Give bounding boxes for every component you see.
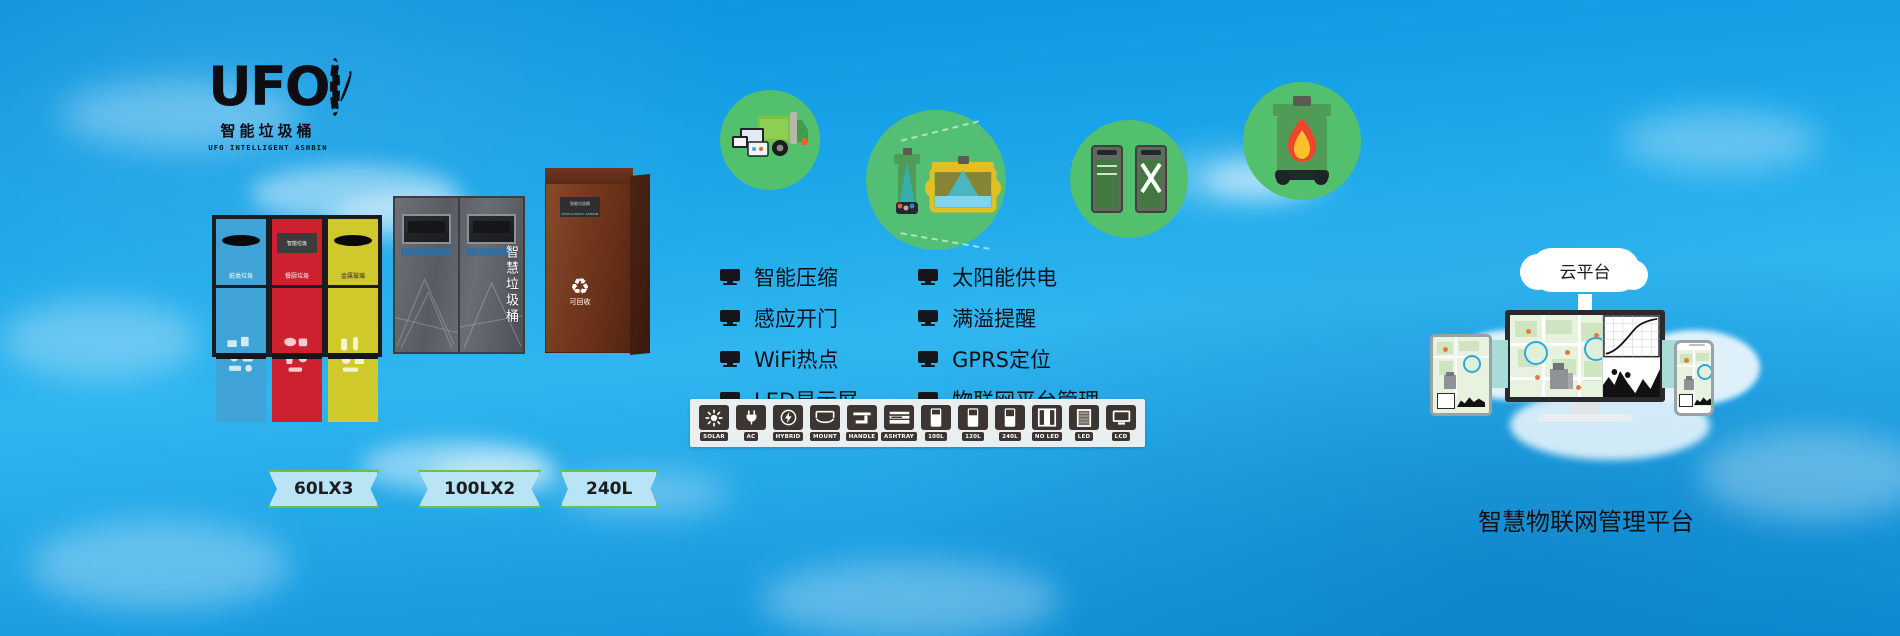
bin-120l-icon [958,405,988,430]
cloud-decoration [760,560,1060,636]
bin-compartment-left [395,198,458,352]
cloud-platform-label: 云平台 [1560,258,1611,283]
tablet-map-view [1433,337,1489,413]
device-tablet [1430,334,1492,416]
feature-label: 满溢提醒 [952,303,1036,333]
no-led-icon [1032,405,1062,430]
spec-label: AC [744,432,759,441]
feature-label: GPRS定位 [952,344,1051,374]
bin-panel-label: 金属玻璃 [328,271,378,280]
spec-label: SOLAR [700,432,728,441]
feature-circle-fire-alarm [1243,82,1361,200]
phone-speaker [1689,344,1705,346]
led-icon [1069,405,1099,430]
bin-panel-metal-glass: 金属玻璃 [324,215,382,357]
bin-panel-label: 纸类垃圾 [216,271,266,280]
bin-panel-recyclable: 纸类垃圾 [212,215,268,357]
cloud-decoration [0,300,200,380]
bin-lid [545,168,633,184]
wall-mount-icon [810,405,840,430]
feature-item: 感应开门 [720,303,858,333]
feature-column-left: 智能压缩 感应开门 WiFi热点 LED显示屏 [720,262,858,415]
feature-item: GPRS定位 [918,344,1099,374]
monitor-icon [918,351,938,367]
spec-ac[interactable]: AC [736,405,766,441]
feature-column-right: 太阳能供电 满溢提醒 GPRS定位 物联网平台管理 [918,262,1099,415]
monitor-icon [720,269,740,285]
monitor-icon [720,351,740,367]
bin-panel-kitchen-waste: 智能垃圾 餐厨垃圾 [268,215,324,357]
cloud-platform-badge: 云平台 [1530,248,1640,292]
recycle-icon: ♻ [562,277,598,297]
spec-ashtray[interactable]: ASHTRAY [884,405,914,441]
brand-logo: UFO 智能垃圾桶 UFO INTELLIGENT ASHBIN [208,56,328,152]
area-chart [1603,363,1660,399]
logo-english-name: UFO INTELLIGENT ASHBIN [207,144,329,152]
spec-lcd[interactable]: LCD [1106,405,1136,441]
bin-screen-title: 智能垃圾桶 [560,201,600,207]
spec-label: LCD [1112,432,1131,441]
device-monitor [1505,310,1665,402]
ashtray-icon [884,405,914,430]
spec-label: ASHTRAY [881,432,917,441]
logo-chinese-name: 智能垃圾桶 [208,120,328,141]
deposit-window-icon [402,214,451,244]
feature-item: WiFi热点 [720,344,858,374]
capacity-banner-60lx3: 60LX3 [268,470,379,508]
spec-label: LED [1075,432,1093,441]
product-bin-240l: 智能垃圾桶 INTELLIGENT ASHBIN ♻ 可回收 [545,168,633,353]
capacity-banner-100lx2: 100LX2 [418,470,541,508]
monitor-left-accent [1492,340,1508,388]
monitor-map-view [1510,315,1603,397]
spec-label: 100L [925,432,947,441]
plug-icon [736,405,766,430]
panel-pattern [395,260,458,352]
bin-100l-icon [921,405,951,430]
bin-base [216,353,266,359]
feature-label: 感应开门 [754,303,838,333]
spec-mount[interactable]: MOUNT [810,405,840,441]
monitor-icon [720,310,740,326]
ufo-ring-icon [330,58,340,116]
spec-label: NO LED [1032,432,1062,441]
recycle-label: 可回收 [562,297,598,307]
truck-icon [720,90,820,190]
lcd-icon [1106,405,1136,430]
monitor-icon [918,310,938,326]
recycle-mark: ♻ 可回收 [562,277,598,307]
feature-label: WiFi热点 [754,344,839,374]
brand-stripe [401,248,452,256]
feature-circle-compaction-compare [1070,120,1188,238]
bin-base [272,353,322,359]
poster-canvas: UFO 智能垃圾桶 UFO INTELLIGENT ASHBIN 纸类垃圾 [0,0,1900,636]
waste-slot-icon [334,235,372,246]
logo-letters: UFO [208,60,329,114]
line-chart [1603,315,1660,358]
bin-base [328,353,378,359]
spec-label: MOUNT [810,432,840,441]
iot-platform-illustration: 云平台 [1430,248,1730,448]
deposit-window-icon [467,214,516,244]
capacity-banner-240l: 240L [560,470,658,508]
sun-icon [699,405,729,430]
spec-100l[interactable]: 100L [921,405,951,441]
cloud-decoration [1620,110,1820,172]
spec-led[interactable]: LED [1069,405,1099,441]
spec-label: HANDLE [846,432,879,441]
arrow-down-icon [1578,294,1592,310]
feature-circle-smart-collection-truck [720,90,820,190]
spec-label: 120L [962,432,984,441]
hybrid-bolt-icon [773,405,803,430]
spec-240l[interactable]: 240L [995,405,1025,441]
spec-hybrid[interactable]: HYBRID [773,405,803,441]
phone-map-view [1677,350,1711,406]
product-bin-60lx3: 纸类垃圾 智能垃圾 餐厨垃圾 [212,215,382,357]
device-phone [1674,340,1714,416]
platform-caption: 智慧物联网管理平台 [1421,502,1751,537]
feature-item: 太阳能供电 [918,262,1099,292]
monitor-stand-base [1538,414,1632,422]
cloud-decoration [30,520,290,610]
spec-solar[interactable]: SOLAR [699,405,729,441]
spec-label: HYBRID [773,432,804,441]
bin-panel-sign: 智能垃圾 [277,233,317,253]
compaction-icon [1070,120,1188,238]
spec-label: 240L [999,432,1021,441]
monitor-icon [918,269,938,285]
feature-item: 智能压缩 [720,262,858,292]
monitor-chart-view [1602,315,1660,397]
spec-icon-strip: SOLAR AC HYBRID MOUNT [690,399,1145,447]
bin-100lx2-side-text: 智慧垃圾桶 [501,245,520,325]
handle-icon [847,405,877,430]
spec-120l[interactable]: 120L [958,405,988,441]
feature-item: 满溢提醒 [918,303,1099,333]
bin-240l-icon [995,405,1025,430]
feature-list: 智能压缩 感应开门 WiFi热点 LED显示屏 太阳能供电 满溢提醒 [720,262,1099,415]
spec-handle[interactable]: HANDLE [847,405,877,441]
bin-panel-label: 餐厨垃圾 [272,271,322,280]
feature-label: 太阳能供电 [952,262,1057,292]
feature-label: 智能压缩 [754,262,838,292]
fire-icon [1243,82,1361,200]
waste-slot-icon [222,235,260,246]
bin-screen-subtitle: INTELLIGENT ASHBIN [560,211,600,217]
spec-no-led[interactable]: NO LED [1032,405,1062,441]
bin-display-screen: 智能垃圾桶 INTELLIGENT ASHBIN [560,197,600,217]
